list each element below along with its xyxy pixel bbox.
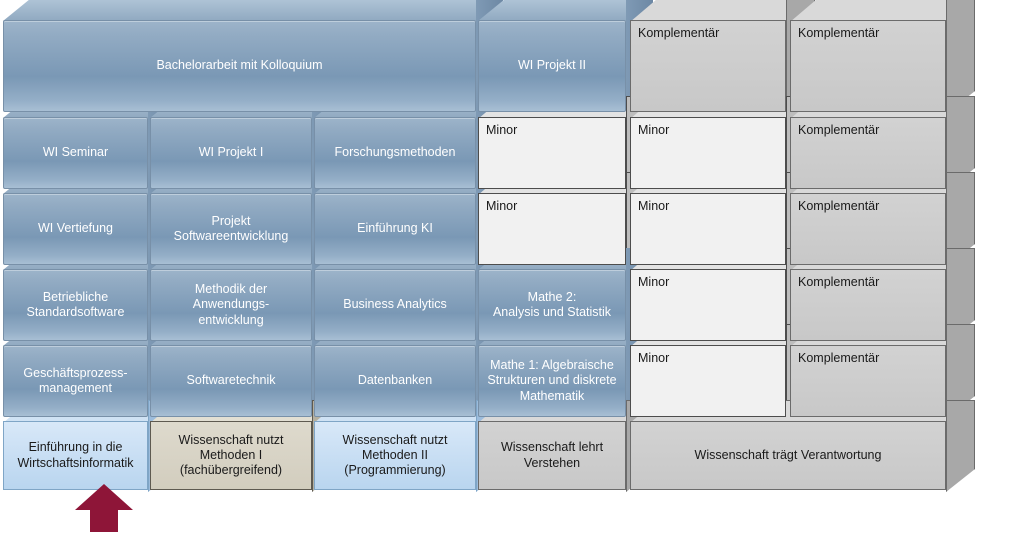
box-label-methodik-anwendungsentwicklung: Methodik der Anwendungs- entwicklung: [150, 269, 312, 341]
module-box-wi-projekt-2[interactable]: WI Projekt II: [478, 0, 653, 112]
box-label-wissenschaft-traegt-verantwortung: Wissenschaft trägt Verantwortung: [630, 421, 946, 490]
box-label-mathe-2: Mathe 2: Analysis und Statistik: [478, 269, 626, 341]
box-label-betriebliche-standardsoftware: Betriebliche Standardsoftware: [3, 269, 148, 341]
box-label-minor-r4-c5: Minor: [630, 269, 786, 341]
box-label-wissenschaft-methoden-2: Wissenschaft nutzt Methoden II (Programm…: [314, 421, 476, 490]
box-label-einfuehrung-ki: Einführung KI: [314, 193, 476, 265]
box-label-wi-vertiefung: WI Vertiefung: [3, 193, 148, 265]
box-label-minor-r2-c5: Minor: [630, 117, 786, 189]
box-top-face: [630, 0, 788, 22]
box-label-komplementaer-r3-c6: Komplementär: [790, 193, 946, 265]
box-label-komplementaer-r2-c6: Komplementär: [790, 117, 946, 189]
box-label-business-analytics: Business Analytics: [314, 269, 476, 341]
box-label-minor-r3-c5: Minor: [630, 193, 786, 265]
box-label-komplementaer-r5-c6: Komplementär: [790, 345, 946, 417]
module-box-komplementaer-r1-c6[interactable]: Komplementär: [790, 0, 973, 112]
box-label-bachelorarbeit: Bachelorarbeit mit Kolloquium: [3, 20, 476, 112]
box-top-face: [478, 0, 627, 21]
box-label-projekt-swe: Projekt Softwareentwicklung: [150, 193, 312, 265]
box-label-forschungsmethoden: Forschungsmethoden: [314, 117, 476, 189]
box-label-minor-r5-c5: Minor: [630, 345, 786, 417]
box-label-komplementaer-r1-c6: Komplementär: [790, 20, 946, 112]
box-label-komplementaer-r1-c5: Komplementär: [630, 20, 786, 112]
box-label-einfuehrung-wirtschaftsinformatik: Einführung in die Wirtschaftsinformatik: [3, 421, 148, 490]
box-label-mathe-1: Mathe 1: Algebraische Strukturen und dis…: [478, 345, 626, 417]
box-top-face: [790, 0, 948, 22]
module-box-komplementaer-r1-c5[interactable]: Komplementär: [630, 0, 813, 112]
up-arrow-marker-icon: [73, 482, 135, 532]
box-label-minor-r3-c4: Minor: [478, 193, 626, 265]
box-label-wi-projekt-2: WI Projekt II: [478, 20, 626, 112]
box-label-wi-seminar: WI Seminar: [3, 117, 148, 189]
box-label-komplementaer-r4-c6: Komplementär: [790, 269, 946, 341]
box-label-wissenschaft-methoden-1: Wissenschaft nutzt Methoden I (fachüberg…: [150, 421, 312, 490]
box-label-wissenschaft-lehrt-verstehen: Wissenschaft lehrt Verstehen: [478, 421, 626, 490]
curriculum-diagram: Bachelorarbeit mit KolloquiumWI Projekt …: [0, 0, 1021, 530]
box-side-face: [946, 400, 975, 492]
box-label-geschaeftsprozessmanagement: Geschäftsprozess- management: [3, 345, 148, 417]
box-label-softwaretechnik: Softwaretechnik: [150, 345, 312, 417]
box-top-face: [3, 0, 477, 21]
box-label-minor-r2-c4: Minor: [478, 117, 626, 189]
box-label-datenbanken: Datenbanken: [314, 345, 476, 417]
module-box-bachelorarbeit[interactable]: Bachelorarbeit mit Kolloquium: [3, 0, 503, 112]
box-label-wi-projekt-1: WI Projekt I: [150, 117, 312, 189]
